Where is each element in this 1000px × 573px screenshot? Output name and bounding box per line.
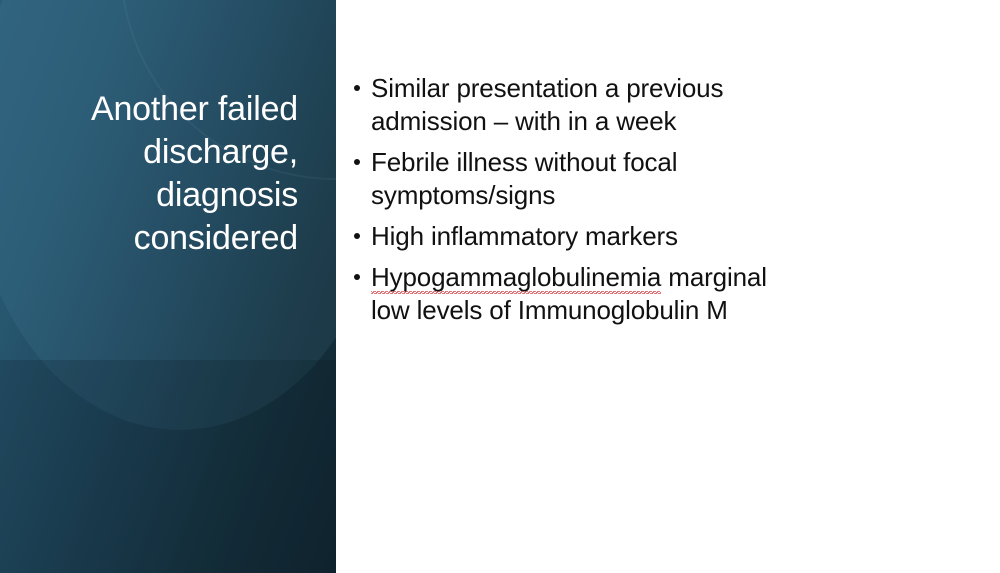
spellcheck-error-word: Hypogammaglobulinemia: [371, 262, 661, 294]
list-item-label: High inflammatory markers: [371, 220, 773, 253]
decorative-band: [0, 360, 336, 573]
list-item-label: Hypogammaglobulinemia marginal low level…: [371, 261, 773, 327]
slide-canvas: Another failed discharge, diagnosis cons…: [0, 0, 1000, 573]
gears-arrows-svg: [996, 100, 1000, 445]
list-item: Hypogammaglobulinemia marginal low level…: [353, 261, 773, 327]
title-panel: Another failed discharge, diagnosis cons…: [0, 0, 336, 573]
content-panel: Similar presentation a previous admissio…: [336, 0, 1000, 573]
list-item: Febrile illness without focal symptoms/s…: [353, 146, 773, 212]
gears-and-arrows-graphic: [996, 100, 1000, 445]
bullet-point-icon: [354, 274, 360, 280]
list-item: Similar presentation a previous admissio…: [353, 72, 773, 138]
list-item-label: Similar presentation a previous admissio…: [371, 72, 773, 138]
list-item-label: Febrile illness without focal symptoms/s…: [371, 146, 773, 212]
bullet-point-icon: [354, 159, 360, 165]
list-item: High inflammatory markers: [353, 220, 773, 253]
bullet-point-icon: [354, 85, 360, 91]
bullet-list: Similar presentation a previous admissio…: [353, 72, 773, 327]
slide-title: Another failed discharge, diagnosis cons…: [36, 88, 298, 260]
bullet-point-icon: [354, 233, 360, 239]
